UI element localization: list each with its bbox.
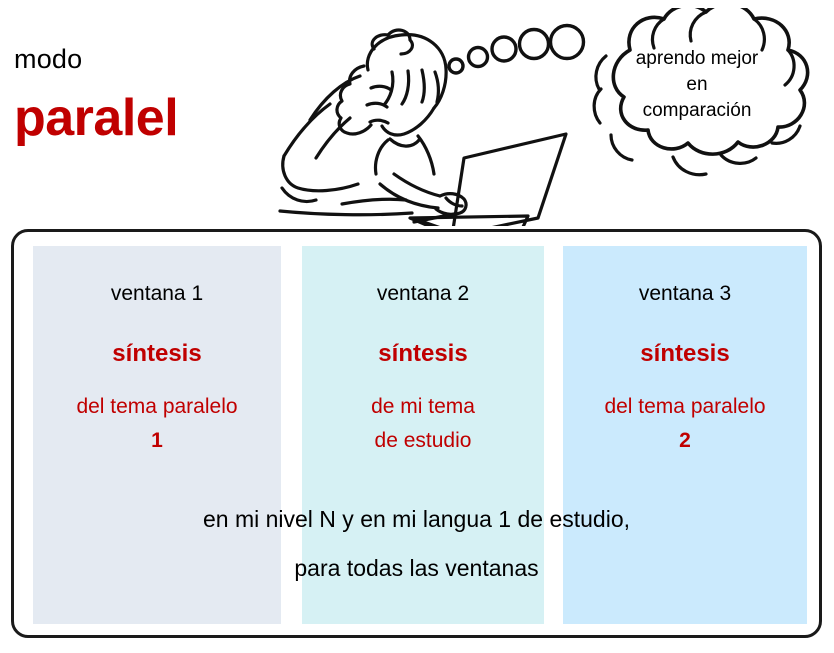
- window-column-2[interactable]: ventana 2 síntesis de mi tema de estudio: [302, 246, 544, 624]
- thought-bubble-text: aprendo mejor en comparación: [600, 46, 794, 124]
- window-1-desc-line-2: 1: [33, 424, 281, 458]
- header-area: modo paralel: [0, 0, 834, 229]
- window-1-title: ventana 1: [33, 282, 281, 306]
- window-1-desc-line-1: del tema paralelo: [33, 390, 281, 424]
- window-3-sintesis: síntesis: [563, 340, 807, 368]
- window-2-desc-line-1: de mi tema: [302, 390, 544, 424]
- window-3-desc-line-1: del tema paralelo: [563, 390, 807, 424]
- window-column-1[interactable]: ventana 1 síntesis del tema paralelo 1: [33, 246, 281, 624]
- window-1-description: del tema paralelo 1: [33, 390, 281, 458]
- window-column-3[interactable]: ventana 3 síntesis del tema paralelo 2: [563, 246, 807, 624]
- window-3-desc-line-2: 2: [563, 424, 807, 458]
- bubble-line-3: comparación: [600, 98, 794, 124]
- windows-panel: ventana 1 síntesis del tema paralelo 1 v…: [11, 229, 822, 638]
- window-3-description: del tema paralelo 2: [563, 390, 807, 458]
- window-2-description: de mi tema de estudio: [302, 390, 544, 458]
- bubble-line-2: en: [600, 72, 794, 98]
- window-2-desc-line-2: de estudio: [302, 424, 544, 458]
- window-2-title: ventana 2: [302, 282, 544, 306]
- columns-container: ventana 1 síntesis del tema paralelo 1 v…: [14, 232, 825, 641]
- mode-label: modo: [14, 46, 82, 73]
- window-2-sintesis: síntesis: [302, 340, 544, 368]
- window-1-sintesis: síntesis: [33, 340, 281, 368]
- window-3-title: ventana 3: [563, 282, 807, 306]
- bubble-line-1: aprendo mejor: [600, 46, 794, 72]
- page-title: paralel: [14, 92, 178, 144]
